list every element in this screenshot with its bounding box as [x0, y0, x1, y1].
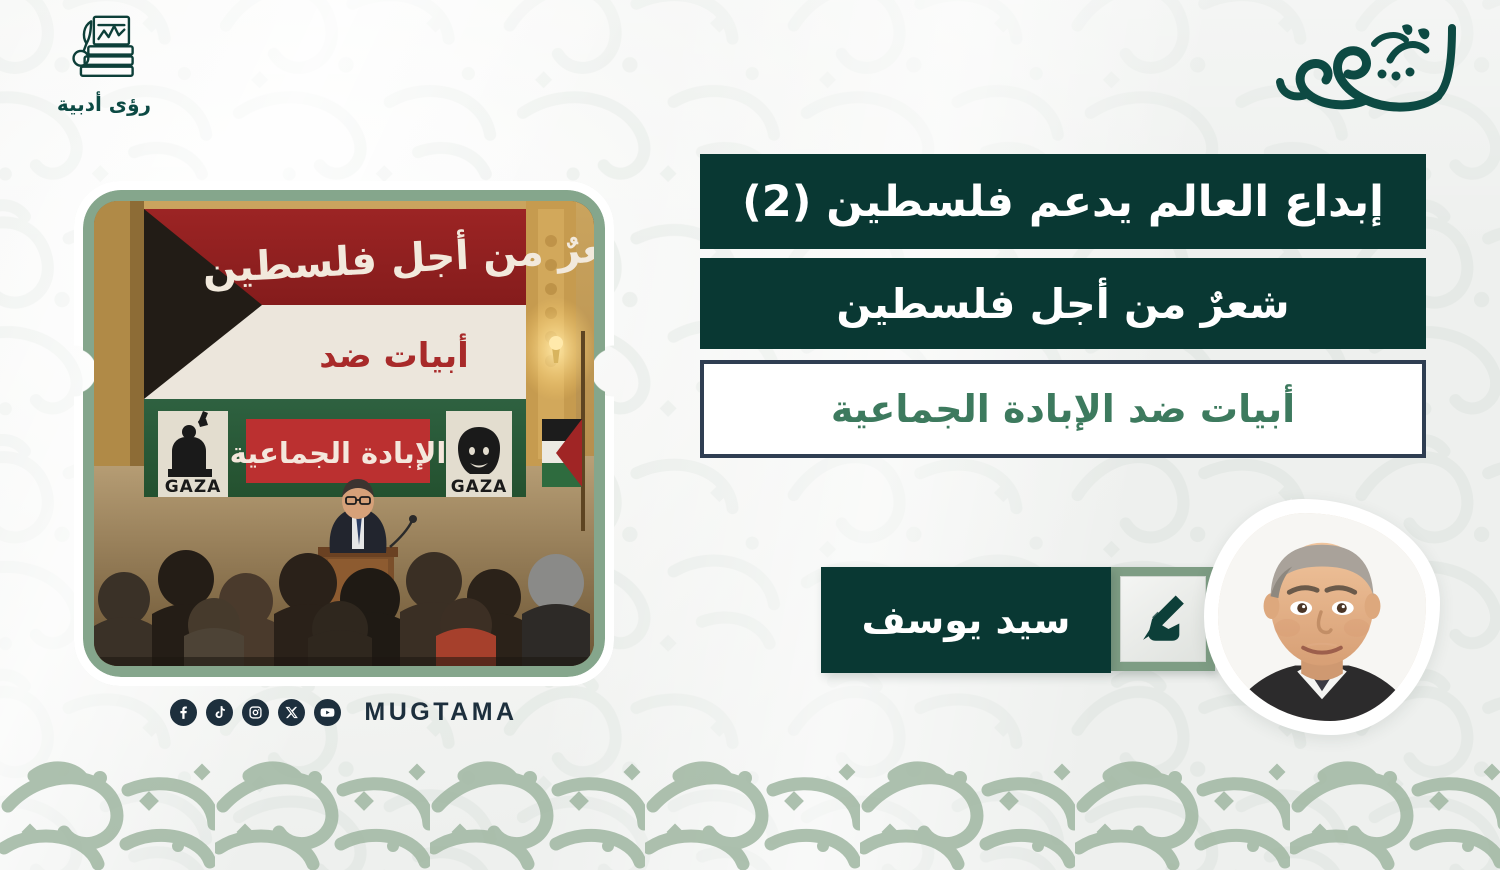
- tiktok-icon[interactable]: [206, 699, 233, 726]
- brand-left: رؤى أدبية: [34, 14, 174, 116]
- social-handle: MUGTAMA: [364, 698, 517, 727]
- social-footer[interactable]: MUGTAMA: [74, 698, 614, 727]
- youtube-icon[interactable]: [314, 699, 341, 726]
- books-quill-icon: [67, 14, 141, 86]
- mugtama-calligraphy-logo: [1270, 14, 1470, 124]
- svg-text:أبيات ضد: أبيات ضد: [319, 333, 469, 376]
- facebook-icon[interactable]: [170, 699, 197, 726]
- avatar: [1204, 499, 1440, 735]
- author-row: سيد يوسف: [821, 567, 1215, 673]
- avatar-photo: [1218, 513, 1426, 721]
- author-name: سيد يوسف: [821, 567, 1111, 673]
- author-icon-box: [1111, 567, 1215, 671]
- brand-left-label: رؤى أدبية: [34, 92, 174, 116]
- series-title-bar: إبداع العالم يدعم فلسطين (2): [700, 154, 1426, 249]
- subhead-bar: أبيات ضد الإبادة الجماعية: [700, 360, 1426, 458]
- bottom-calligraphy-band: [0, 760, 1500, 870]
- headline-bar: شعرٌ من أجل فلسطين: [700, 258, 1426, 349]
- brand-right-logo: [1270, 14, 1470, 124]
- title-stack: إبداع العالم يدعم فلسطين (2) شعرٌ من أجل…: [700, 154, 1426, 458]
- instagram-icon[interactable]: [242, 699, 269, 726]
- poster-canvas: رؤى أدبية: [0, 0, 1500, 870]
- svg-text:GAZA: GAZA: [165, 477, 222, 497]
- hand-writing-pen-icon: [1134, 590, 1192, 648]
- event-photo: شعرٌ من أجل فلسطين أبيات ضد الإبادة الجم…: [94, 201, 594, 666]
- svg-text:GAZA: GAZA: [451, 477, 508, 497]
- svg-text:الإبادة الجماعية: الإبادة الجماعية: [230, 436, 447, 470]
- event-photo-card: شعرٌ من أجل فلسطين أبيات ضد الإبادة الجم…: [74, 181, 614, 686]
- x-twitter-icon[interactable]: [278, 699, 305, 726]
- author-icon-inner: [1120, 576, 1206, 662]
